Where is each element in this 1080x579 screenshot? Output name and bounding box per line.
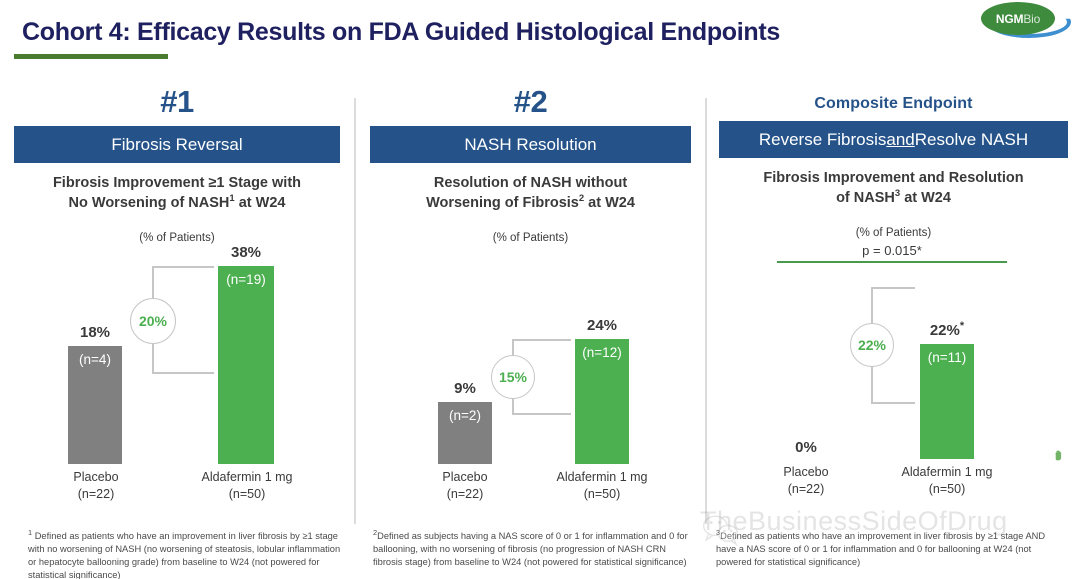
footnote-1: 1 Defined as patients who have an improv…	[28, 528, 343, 579]
chart-2: 9% (n=2) 24% (n=12) 15%	[356, 254, 705, 504]
axis-label-aldafermin-1: Aldafermin 1 mg (n=50)	[185, 469, 309, 502]
axis-label-aldafermin-3: Aldafermin 1 mg (n=50)	[885, 464, 1009, 497]
delta-badge-1: 20%	[130, 298, 176, 344]
axis-group-name: Placebo	[73, 470, 118, 484]
bar-rect-aldafermin-2: (n=12)	[575, 339, 629, 464]
banner-post: Resolve NASH	[915, 130, 1028, 150]
panel-subtitle-1: Fibrosis Improvement ≥1 Stage with No Wo…	[10, 174, 344, 212]
subtitle-line2-pre: of NASH	[836, 189, 895, 205]
axis-group-n: (n=22)	[447, 487, 483, 501]
axis-group-name: Placebo	[783, 465, 828, 479]
panel-banner-3: Reverse Fibrosis and Resolve NASH	[719, 121, 1068, 158]
subtitle-line2-post: at W24	[584, 194, 635, 210]
axis-group-name: Aldafermin 1 mg	[901, 465, 992, 479]
panel-rank-2: #2	[356, 86, 705, 117]
bar-rect-aldafermin-1: (n=19)	[218, 266, 274, 464]
banner-underline-word: and	[886, 130, 914, 150]
delta-bracket-3: 22%	[871, 287, 915, 404]
panel-banner-1: Fibrosis Reversal	[14, 126, 340, 163]
axis-label-placebo-2: Placebo (n=22)	[424, 469, 506, 502]
subtitle-line2-pre: Worsening of Fibrosis	[426, 194, 579, 210]
bracket-line-top	[152, 266, 214, 268]
axis-group-name: Placebo	[442, 470, 487, 484]
delta-bracket-2: 15%	[512, 339, 571, 415]
bar-rect-placebo-2: (n=2)	[438, 402, 492, 464]
footnotes-container: 1 Defined as patients who have an improv…	[0, 528, 1080, 579]
logo-circle-icon: NGMBio	[981, 2, 1055, 35]
logo-text: NGMBio	[996, 12, 1040, 26]
subtitle-line1: Fibrosis Improvement ≥1 Stage with	[53, 175, 301, 191]
ngmbio-logo: NGMBio	[981, 2, 1077, 40]
bar-value-placebo-2: 9%	[438, 380, 492, 397]
pvalue-line	[777, 261, 1007, 264]
bar-aldafermin-2: 24% (n=12)	[575, 339, 629, 464]
panel-units-3: (% of Patients)	[707, 227, 1080, 239]
panel-subtitle-3: Fibrosis Improvement and Resolution of N…	[717, 169, 1070, 207]
axis-group-n: (n=22)	[788, 482, 824, 496]
panel-subtitle-2: Resolution of NASH without Worsening of …	[366, 174, 695, 212]
panel-banner-2: NASH Resolution	[370, 126, 691, 163]
bar-aldafermin-1: 38% (n=19)	[218, 266, 274, 464]
bar-n-aldafermin-2: (n=12)	[582, 345, 621, 464]
bar-n-placebo-2: (n=2)	[449, 408, 481, 464]
chart-1: 18% (n=4) 38% (n=19) 20%	[0, 254, 354, 504]
axis-label-placebo-3: Placebo (n=22)	[765, 464, 847, 497]
axis-group-n: (n=50)	[584, 487, 620, 501]
subtitle-line2-post: at W24	[235, 194, 286, 210]
banner-pre: Reverse Fibrosis	[759, 130, 887, 150]
bar-placebo-1: 18% (n=4)	[68, 346, 122, 464]
delta-badge-3: 22%	[850, 323, 894, 367]
panel-nash-resolution: #2 NASH Resolution Resolution of NASH wi…	[356, 84, 705, 524]
title-underline-rule	[14, 54, 168, 59]
panel-rank-3: Composite Endpoint	[707, 96, 1080, 112]
pvalue-annotation: p = 0.015*	[777, 243, 1007, 264]
page-title: Cohort 4: Efficacy Results on FDA Guided…	[22, 18, 780, 47]
bar-n-placebo-1: (n=4)	[79, 352, 111, 464]
subtitle-line2-post: at W24	[900, 189, 951, 205]
bar-value-aldafermin-2: 24%	[575, 317, 629, 334]
footnote-3: 3Defined as patients who have an improve…	[716, 528, 1066, 569]
bar-rect-placebo-1: (n=4)	[68, 346, 122, 464]
footnote-text: Defined as subjects having a NAS score o…	[373, 531, 688, 567]
bracket-line-bottom	[871, 402, 915, 404]
bar-value-superscript: *	[960, 320, 964, 332]
delta-badge-2: 15%	[491, 355, 535, 399]
footnote-text: Defined as patients who have an improvem…	[28, 531, 340, 579]
bracket-line-top	[871, 287, 915, 289]
bar-n-aldafermin-3: (n=11)	[928, 350, 966, 459]
axis-group-name: Aldafermin 1 mg	[556, 470, 647, 484]
bar-n-aldafermin-1: (n=19)	[226, 272, 265, 464]
axis-group-n: (n=22)	[78, 487, 114, 501]
slide-root: Cohort 4: Efficacy Results on FDA Guided…	[0, 0, 1080, 579]
subtitle-line1: Resolution of NASH without	[434, 175, 627, 191]
footnote-text: Defined as patients who have an improvem…	[716, 531, 1045, 567]
pvalue-text: p = 0.015*	[777, 243, 1007, 258]
panel-units-1: (% of Patients)	[0, 232, 354, 244]
panel-composite-endpoint: Composite Endpoint Reverse Fibrosis and …	[707, 84, 1080, 524]
panel-rank-1: #1	[0, 86, 354, 117]
bar-value-placebo-3: 0%	[779, 439, 833, 456]
bracket-line-top	[512, 339, 571, 341]
panel-fibrosis-reversal: #1 Fibrosis Reversal Fibrosis Improvemen…	[0, 84, 354, 524]
bar-value-text: 22%	[930, 322, 960, 339]
bar-value-aldafermin-3: 22%*	[920, 320, 974, 339]
bracket-line-bottom	[512, 413, 571, 415]
panel-units-2: (% of Patients)	[356, 232, 705, 244]
chart-3: p = 0.015* 0% 22%* (n=11)	[707, 249, 1080, 499]
axis-group-n: (n=50)	[929, 482, 965, 496]
bracket-line-bottom	[152, 372, 214, 374]
axis-label-placebo-1: Placebo (n=22)	[55, 469, 137, 502]
bar-rect-aldafermin-3: (n=11)	[920, 344, 974, 459]
axis-group-name: Aldafermin 1 mg	[201, 470, 292, 484]
panels-container: #1 Fibrosis Reversal Fibrosis Improvemen…	[0, 84, 1080, 524]
evernote-icon	[1053, 448, 1066, 463]
footnote-2: 2Defined as subjects having a NAS score …	[373, 528, 695, 569]
bar-aldafermin-3: 22%* (n=11)	[920, 344, 974, 459]
bar-placebo-2: 9% (n=2)	[438, 402, 492, 464]
delta-bracket-1: 20%	[152, 266, 214, 374]
axis-group-n: (n=50)	[229, 487, 265, 501]
bar-value-placebo-1: 18%	[68, 324, 122, 341]
subtitle-line2-pre: No Worsening of NASH	[69, 194, 230, 210]
subtitle-line1: Fibrosis Improvement and Resolution	[763, 170, 1023, 186]
bar-value-aldafermin-1: 38%	[218, 244, 274, 261]
axis-label-aldafermin-2: Aldafermin 1 mg (n=50)	[540, 469, 664, 502]
